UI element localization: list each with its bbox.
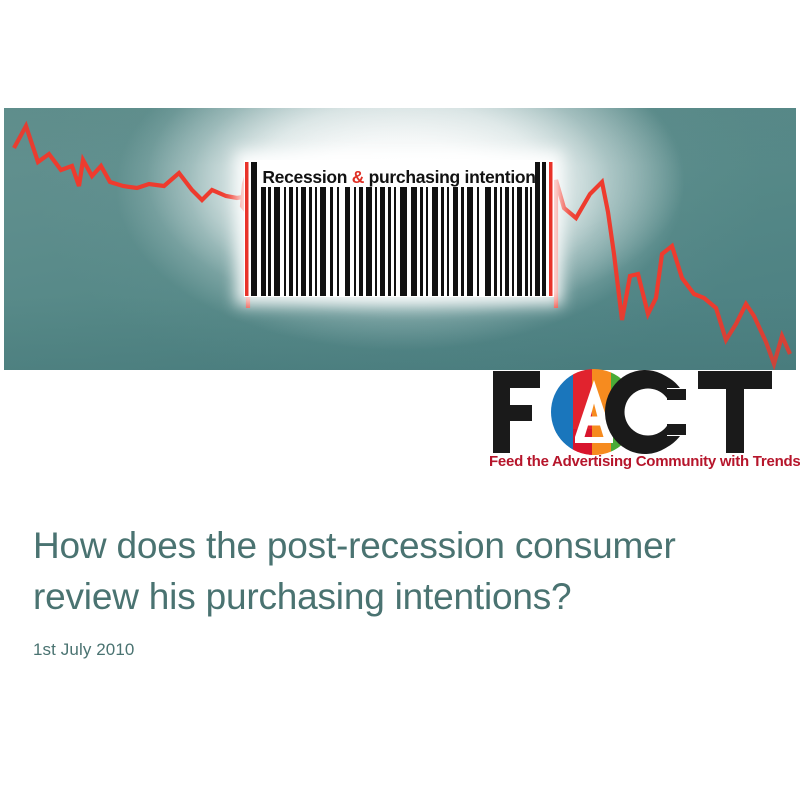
fact-tagline: Feed the Advertising Community with Tren…	[489, 453, 795, 470]
fact-logo: Feed the Advertising Community with Tren…	[489, 367, 795, 479]
logo-letter-f	[493, 371, 540, 453]
caption-ampersand: &	[352, 167, 364, 187]
trend-line-left	[14, 126, 262, 200]
logo-letter-t	[698, 371, 772, 453]
title-block: How does the post-recession consumer rev…	[33, 520, 763, 660]
logo-letter-c	[605, 370, 694, 454]
presentation-slide: Recession & purchasing intention	[0, 0, 800, 800]
fact-wordmark-icon	[489, 367, 795, 455]
slide-date: 1st July 2010	[33, 640, 763, 660]
caption-post: purchasing intention	[364, 167, 536, 187]
barcode-graphic: Recession & purchasing intention	[244, 160, 554, 297]
page-title: How does the post-recession consumer rev…	[33, 520, 763, 622]
trend-line-right	[556, 180, 790, 364]
barcode-caption: Recession & purchasing intention	[244, 167, 554, 188]
caption-pre: Recession	[262, 167, 351, 187]
